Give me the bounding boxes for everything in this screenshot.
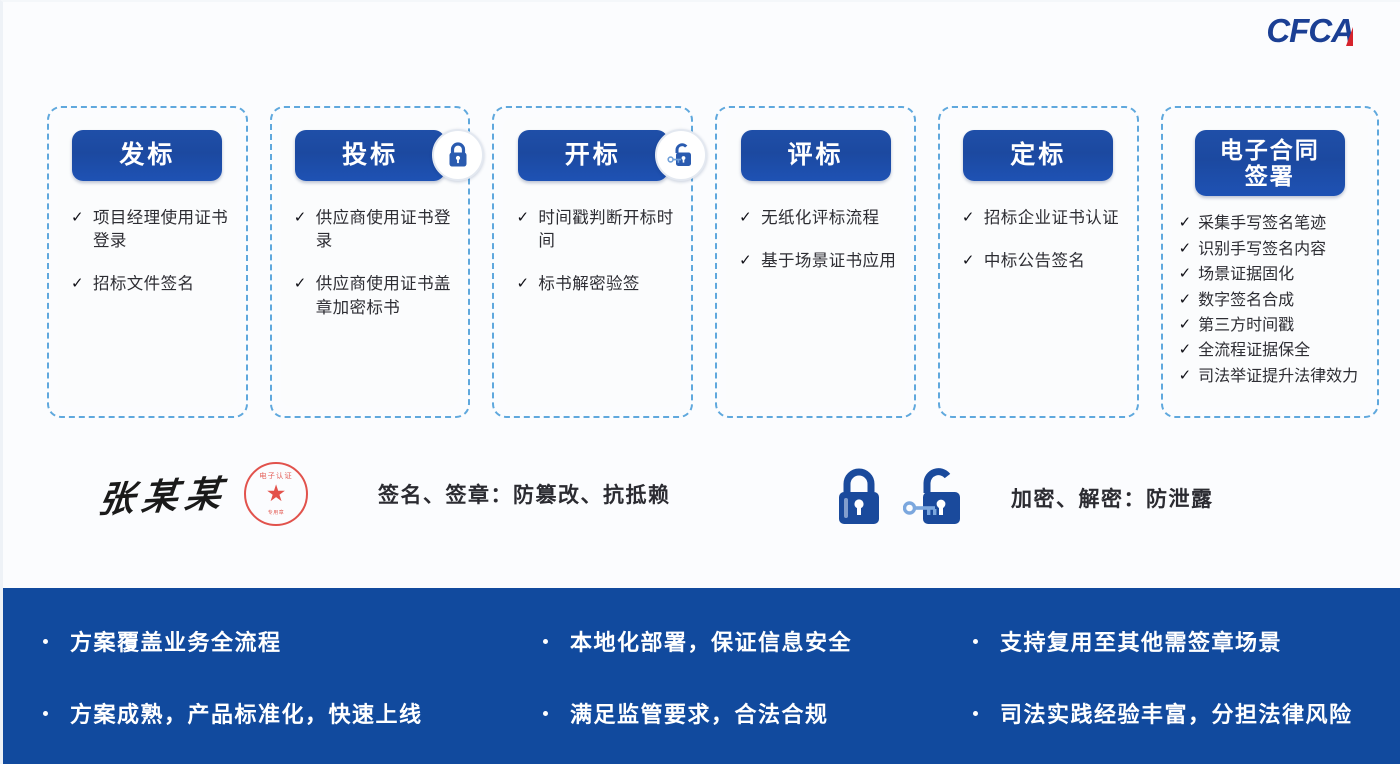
unlock-key-icon bbox=[655, 129, 707, 181]
footer-item-label: 满足监管要求，合法合规 bbox=[570, 697, 829, 729]
list-item: ✓ 识别手写签名内容 bbox=[1179, 238, 1361, 261]
list-item: ✓ 第三方时间戳 bbox=[1179, 314, 1361, 337]
footer-item-label: 方案覆盖业务全流程 bbox=[70, 625, 282, 657]
process-card-kaibiao[interactable]: 开标 ✓ 时间戳判断开标时间 bbox=[492, 106, 693, 418]
list-item-label: 识别手写签名内容 bbox=[1198, 238, 1326, 261]
seal-sub-text: 专用章 bbox=[246, 509, 306, 516]
card-bullet-list: ✓ 时间戳判断开标时间 ✓ 标书解密验签 bbox=[504, 207, 681, 317]
list-item-label: 数字签名合成 bbox=[1198, 289, 1294, 312]
bullet-dot-icon bbox=[973, 711, 978, 716]
legend-encryption-group: 加密、解密：防泄露 bbox=[831, 466, 1214, 530]
card-title-pill: 发标 bbox=[72, 130, 222, 181]
lock-icon bbox=[432, 129, 484, 181]
check-icon: ✓ bbox=[1179, 365, 1192, 387]
check-icon: ✓ bbox=[1179, 289, 1192, 311]
list-item-label: 时间戳判断开标时间 bbox=[538, 207, 675, 254]
footer-item-label: 方案成熟，产品标准化，快速上线 bbox=[70, 697, 423, 729]
list-item: ✓ 场景证据固化 bbox=[1179, 263, 1361, 286]
list-item-label: 第三方时间戳 bbox=[1198, 314, 1294, 337]
footer-benefits-bar: 方案覆盖业务全流程 方案成熟，产品标准化，快速上线 本地化部署，保证信息安全 满… bbox=[3, 588, 1400, 764]
list-item: ✓ 数字签名合成 bbox=[1179, 289, 1361, 312]
check-icon: ✓ bbox=[516, 273, 529, 295]
check-icon: ✓ bbox=[1179, 238, 1192, 260]
legend-encryption-label: 加密、解密：防泄露 bbox=[1011, 483, 1214, 513]
process-card-pingbiao[interactable]: 评标 ✓ 无纸化评标流程 ✓ 基于场景证书应用 bbox=[715, 106, 916, 418]
bullet-dot-icon bbox=[43, 711, 48, 716]
check-icon: ✓ bbox=[1179, 339, 1192, 361]
list-item: ✓ 中标公告签名 bbox=[962, 250, 1121, 273]
card-title-pill: 定标 bbox=[963, 130, 1113, 181]
list-item-label: 标书解密验签 bbox=[538, 273, 639, 296]
list-item: ✓ 供应商使用证书盖章加密标书 bbox=[294, 273, 453, 320]
cfca-logo: CFCA bbox=[1266, 14, 1354, 47]
legend-signature-label: 签名、签章：防篡改、抗抵赖 bbox=[378, 479, 671, 509]
bullet-dot-icon bbox=[43, 639, 48, 644]
card-title-line1: 电子合同 bbox=[1209, 137, 1331, 163]
list-item: ✓ 时间戳判断开标时间 bbox=[516, 207, 675, 254]
card-bullet-list: ✓ 供应商使用证书登录 ✓ 供应商使用证书盖章加密标书 bbox=[282, 207, 459, 341]
check-icon: ✓ bbox=[71, 207, 84, 229]
check-icon: ✓ bbox=[739, 250, 752, 272]
unlock-with-key-icon bbox=[903, 466, 965, 530]
process-cards-row: 发标 ✓ 项目经理使用证书登录 ✓ 招标文件签名 投标 bbox=[47, 106, 1379, 418]
card-title-wrap: 评标 bbox=[727, 130, 904, 181]
list-item-label: 供应商使用证书盖章加密标书 bbox=[316, 273, 453, 320]
footer-column-2: 本地化部署，保证信息安全 满足监管要求，合法合规 bbox=[529, 625, 959, 729]
logo-text-cf: CFC bbox=[1266, 14, 1331, 47]
check-icon: ✓ bbox=[962, 207, 975, 229]
card-title-wrap: 发标 bbox=[59, 130, 236, 181]
footer-column-1: 方案覆盖业务全流程 方案成熟，产品标准化，快速上线 bbox=[29, 625, 529, 729]
list-item-label: 无纸化评标流程 bbox=[761, 207, 879, 230]
list-item: ✓ 无纸化评标流程 bbox=[739, 207, 898, 230]
unlock-key-icon-glyph bbox=[667, 141, 695, 169]
footer-column-3: 支持复用至其他需签章场景 司法实践经验丰富，分担法律风险 bbox=[959, 625, 1381, 729]
card-title-wrap: 电子合同 签署 bbox=[1173, 130, 1367, 196]
footer-item-label: 支持复用至其他需签章场景 bbox=[1000, 625, 1282, 657]
lock-closed-icon bbox=[831, 466, 887, 530]
list-item: ✓ 项目经理使用证书登录 bbox=[71, 207, 230, 254]
list-item: 支持复用至其他需签章场景 bbox=[959, 625, 1381, 657]
logo-letter-a: A bbox=[1331, 14, 1354, 47]
card-bullet-list: ✓ 无纸化评标流程 ✓ 基于场景证书应用 bbox=[727, 207, 904, 294]
list-item-label: 中标公告签名 bbox=[984, 250, 1085, 273]
footer-item-label: 本地化部署，保证信息安全 bbox=[570, 625, 852, 657]
list-item-label: 招标文件签名 bbox=[93, 273, 194, 296]
card-bullet-list: ✓ 招标企业证书认证 ✓ 中标公告签名 bbox=[950, 207, 1127, 294]
footer-item-label: 司法实践经验丰富，分担法律风险 bbox=[1000, 697, 1353, 729]
card-title-pill: 电子合同 签署 bbox=[1195, 130, 1345, 196]
check-icon: ✓ bbox=[739, 207, 752, 229]
card-title-pill: 投标 bbox=[295, 130, 445, 181]
process-card-fabiao[interactable]: 发标 ✓ 项目经理使用证书登录 ✓ 招标文件签名 bbox=[47, 106, 248, 418]
list-item: ✓ 标书解密验签 bbox=[516, 273, 675, 296]
slide-root: CFCA 发标 ✓ 项目经理使用证书登录 ✓ 招标文件签名 bbox=[0, 0, 1400, 764]
list-item: 方案成熟，产品标准化，快速上线 bbox=[29, 697, 529, 729]
list-item: ✓ 司法举证提升法律效力 bbox=[1179, 365, 1361, 388]
list-item: ✓ 供应商使用证书登录 bbox=[294, 207, 453, 254]
list-item: ✓ 采集手写签名笔迹 bbox=[1179, 212, 1361, 235]
list-item: 满足监管要求，合法合规 bbox=[529, 697, 959, 729]
seal-star-icon: ★ bbox=[266, 482, 287, 505]
list-item: ✓ 全流程证据保全 bbox=[1179, 339, 1361, 362]
card-title-pill: 评标 bbox=[741, 130, 891, 181]
red-seal-stamp-icon: 电子认证 ★ 专用章 bbox=[244, 462, 308, 526]
list-item-label: 项目经理使用证书登录 bbox=[93, 207, 230, 254]
lock-icon-glyph bbox=[445, 141, 471, 169]
list-item: 司法实践经验丰富，分担法律风险 bbox=[959, 697, 1381, 729]
card-bullet-list: ✓ 采集手写签名笔迹 ✓ 识别手写签名内容 ✓ 场景证据固化 ✓ 数字签名合成 … bbox=[1173, 212, 1367, 390]
card-bullet-list: ✓ 项目经理使用证书登录 ✓ 招标文件签名 bbox=[59, 207, 236, 317]
bullet-dot-icon bbox=[543, 711, 548, 716]
check-icon: ✓ bbox=[516, 207, 529, 229]
card-title-wrap: 投标 bbox=[282, 130, 459, 181]
card-title-pill: 开标 bbox=[518, 130, 668, 181]
card-title-wrap: 定标 bbox=[950, 130, 1127, 181]
process-card-dingbiao[interactable]: 定标 ✓ 招标企业证书认证 ✓ 中标公告签名 bbox=[938, 106, 1139, 418]
check-icon: ✓ bbox=[294, 273, 307, 295]
list-item-label: 全流程证据保全 bbox=[1198, 339, 1310, 362]
list-item: 方案覆盖业务全流程 bbox=[29, 625, 529, 657]
legend-crypt-icons bbox=[831, 466, 965, 530]
check-icon: ✓ bbox=[294, 207, 307, 229]
bullet-dot-icon bbox=[543, 639, 548, 644]
process-card-toubiao[interactable]: 投标 ✓ 供应商使用证书登录 ✓ 供应商使用证书盖章加 bbox=[270, 106, 471, 418]
check-icon: ✓ bbox=[962, 250, 975, 272]
list-item-label: 司法举证提升法律效力 bbox=[1198, 365, 1358, 388]
list-item-label: 采集手写签名笔迹 bbox=[1198, 212, 1326, 235]
list-item-label: 招标企业证书认证 bbox=[984, 207, 1119, 230]
check-icon: ✓ bbox=[1179, 212, 1192, 234]
legend-row: 张某某 电子认证 ★ 专用章 签名、签章：防篡改、抗抵赖 bbox=[3, 450, 1400, 570]
check-icon: ✓ bbox=[1179, 314, 1192, 336]
bullet-dot-icon bbox=[973, 639, 978, 644]
logo-accent-swash bbox=[1346, 27, 1353, 46]
list-item: 本地化部署，保证信息安全 bbox=[529, 625, 959, 657]
check-icon: ✓ bbox=[71, 273, 84, 295]
list-item: ✓ 招标文件签名 bbox=[71, 273, 230, 296]
card-title-wrap: 开标 bbox=[504, 130, 681, 181]
legend-signature-group: 张某某 电子认证 ★ 专用章 签名、签章：防篡改、抗抵赖 bbox=[99, 462, 671, 526]
handwritten-signature: 张某某 bbox=[96, 465, 231, 524]
check-icon: ✓ bbox=[1179, 263, 1192, 285]
list-item: ✓ 基于场景证书应用 bbox=[739, 250, 898, 273]
list-item-label: 基于场景证书应用 bbox=[761, 250, 896, 273]
process-card-econtract-signing[interactable]: 电子合同 签署 ✓ 采集手写签名笔迹 ✓ 识别手写签名内容 ✓ 场景证据固化 bbox=[1161, 106, 1379, 418]
list-item: ✓ 招标企业证书认证 bbox=[962, 207, 1121, 230]
list-item-label: 场景证据固化 bbox=[1198, 263, 1294, 286]
list-item-label: 供应商使用证书登录 bbox=[316, 207, 453, 254]
card-title-line2: 签署 bbox=[1209, 163, 1331, 189]
